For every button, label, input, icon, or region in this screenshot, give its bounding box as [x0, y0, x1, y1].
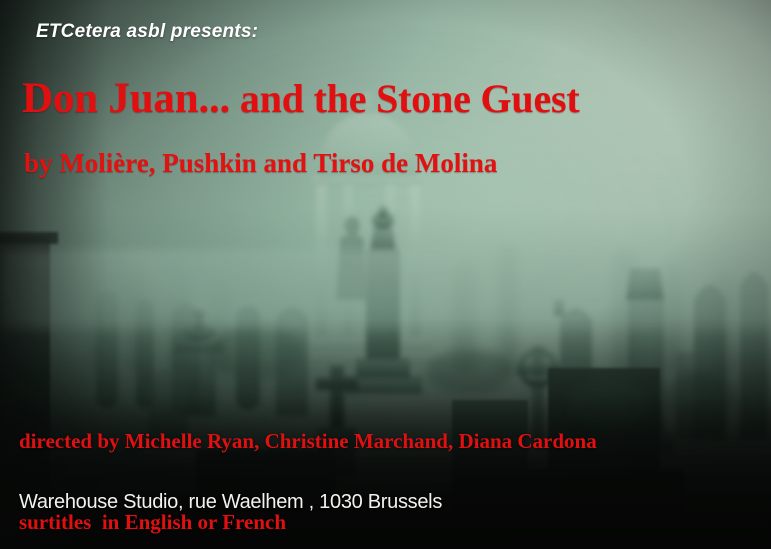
title-lead: Don Juan...	[22, 75, 230, 122]
title-rest: and the Stone Guest	[230, 76, 579, 121]
page-title: Don Juan... and the Stone Guest	[22, 74, 580, 123]
venue-address-line: Warehouse Studio, rue Waelhem , 1030 Bru…	[19, 488, 442, 517]
venue-block: Warehouse Studio, rue Waelhem , 1030 Bru…	[19, 430, 442, 549]
presenter-line: ETCetera asbl presents:	[36, 21, 258, 43]
theatre-poster: ETCetera asbl presents: Don Juan... and …	[0, 0, 771, 549]
authors-line: by Molière, Pushkin and Tirso de Molina	[24, 148, 497, 179]
